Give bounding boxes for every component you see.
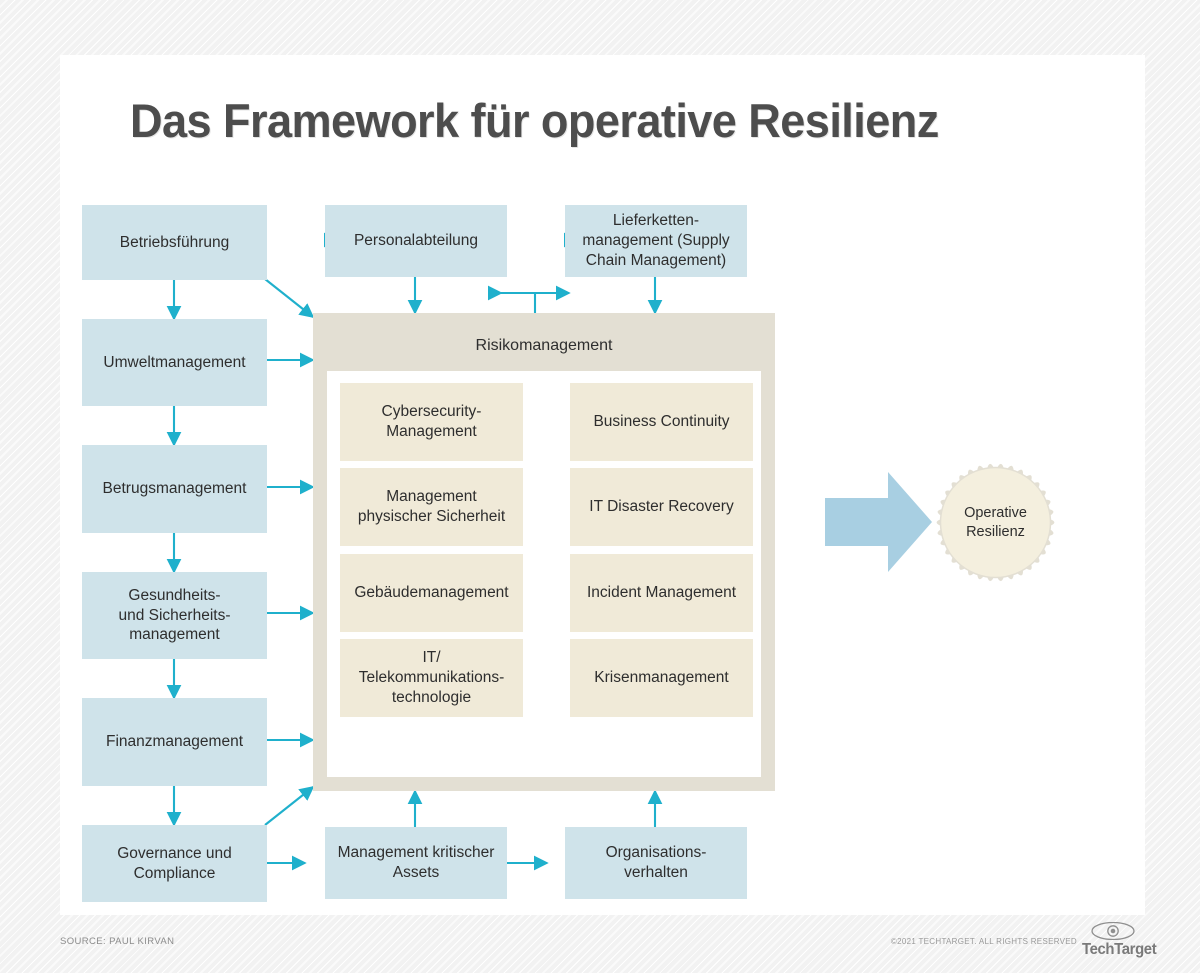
subnode-label: IT/ Telekommunikations- technologie <box>359 648 505 707</box>
node-label: Governance und Compliance <box>117 844 232 884</box>
figure-card: Das Framework für operative Resilienz <box>60 55 1145 915</box>
subnode-business-continuity[interactable]: Business Continuity <box>570 383 753 461</box>
risk-management-inner: Cybersecurity- Management Management phy… <box>327 371 761 777</box>
subnode-label: Krisenmanagement <box>594 668 728 688</box>
node-label: Personalabteilung <box>354 231 478 251</box>
subnode-management-physischer-sicherheit[interactable]: Management physischer Sicherheit <box>340 468 523 546</box>
node-label: Betriebsführung <box>120 233 229 253</box>
eye-icon <box>1090 922 1156 940</box>
node-label: Umweltmanagement <box>103 353 245 373</box>
subnode-label: Gebäudemanagement <box>354 583 508 603</box>
node-organisationsverhalten[interactable]: Organisations- verhalten <box>565 827 747 899</box>
risk-management-panel: Risikomanagement Cybersecurity- Manageme… <box>313 313 775 791</box>
node-label: Lieferketten- management (Supply Chain M… <box>582 211 729 270</box>
subnode-krisenmanagement[interactable]: Krisenmanagement <box>570 639 753 717</box>
node-label: Betrugsmanagement <box>103 479 247 499</box>
framework-diagram: Betriebsführung Umweltmanagement Betrugs… <box>60 55 1145 915</box>
node-betriebsfuehrung[interactable]: Betriebsführung <box>82 205 267 280</box>
subnode-cybersecurity-management[interactable]: Cybersecurity- Management <box>340 383 523 461</box>
techtarget-logo: TechTarget <box>1082 924 1148 960</box>
subnode-it-telekommunikationstechnologie[interactable]: IT/ Telekommunikations- technologie <box>340 639 523 717</box>
node-gesundheits-sicherheitsmanagement[interactable]: Gesundheits- und Sicherheits- management <box>82 572 267 659</box>
source-credit: SOURCE: PAUL KIRVAN <box>60 936 174 947</box>
node-umweltmanagement[interactable]: Umweltmanagement <box>82 319 267 406</box>
node-betrugsmanagement[interactable]: Betrugsmanagement <box>82 445 267 533</box>
subnode-label: Cybersecurity- Management <box>382 402 482 442</box>
outcome-arrow <box>825 472 932 572</box>
node-management-kritischer-assets[interactable]: Management kritischer Assets <box>325 827 507 899</box>
operative-resilienz-node[interactable]: Operative Resilienz <box>928 455 1063 590</box>
copyright-notice: ©2021 TECHTARGET. ALL RIGHTS RESERVED <box>891 937 1077 946</box>
node-label: Organisations- verhalten <box>606 843 707 883</box>
subnode-gebaeudemanagement[interactable]: Gebäudemanagement <box>340 554 523 632</box>
subnode-label: IT Disaster Recovery <box>589 497 733 517</box>
subnode-incident-management[interactable]: Incident Management <box>570 554 753 632</box>
subnode-label: Incident Management <box>587 583 736 603</box>
subnode-label: Management physischer Sicherheit <box>358 487 505 527</box>
subnode-label: Business Continuity <box>593 412 729 432</box>
node-label: Gesundheits- und Sicherheits- management <box>118 586 230 645</box>
techtarget-wordmark: TechTarget <box>1082 941 1156 959</box>
node-finanzmanagement[interactable]: Finanzmanagement <box>82 698 267 786</box>
outcome-label-text: Operative Resilienz <box>964 504 1027 542</box>
node-lieferkettenmanagement[interactable]: Lieferketten- management (Supply Chain M… <box>565 205 747 277</box>
node-label: Finanzmanagement <box>106 732 243 752</box>
risk-management-title: Risikomanagement <box>313 337 775 355</box>
node-personalabteilung[interactable]: Personalabteilung <box>325 205 507 277</box>
operative-resilienz-label: Operative Resilienz <box>928 455 1063 590</box>
node-governance-compliance[interactable]: Governance und Compliance <box>82 825 267 902</box>
subnode-it-disaster-recovery[interactable]: IT Disaster Recovery <box>570 468 753 546</box>
node-label: Management kritischer Assets <box>338 843 495 883</box>
